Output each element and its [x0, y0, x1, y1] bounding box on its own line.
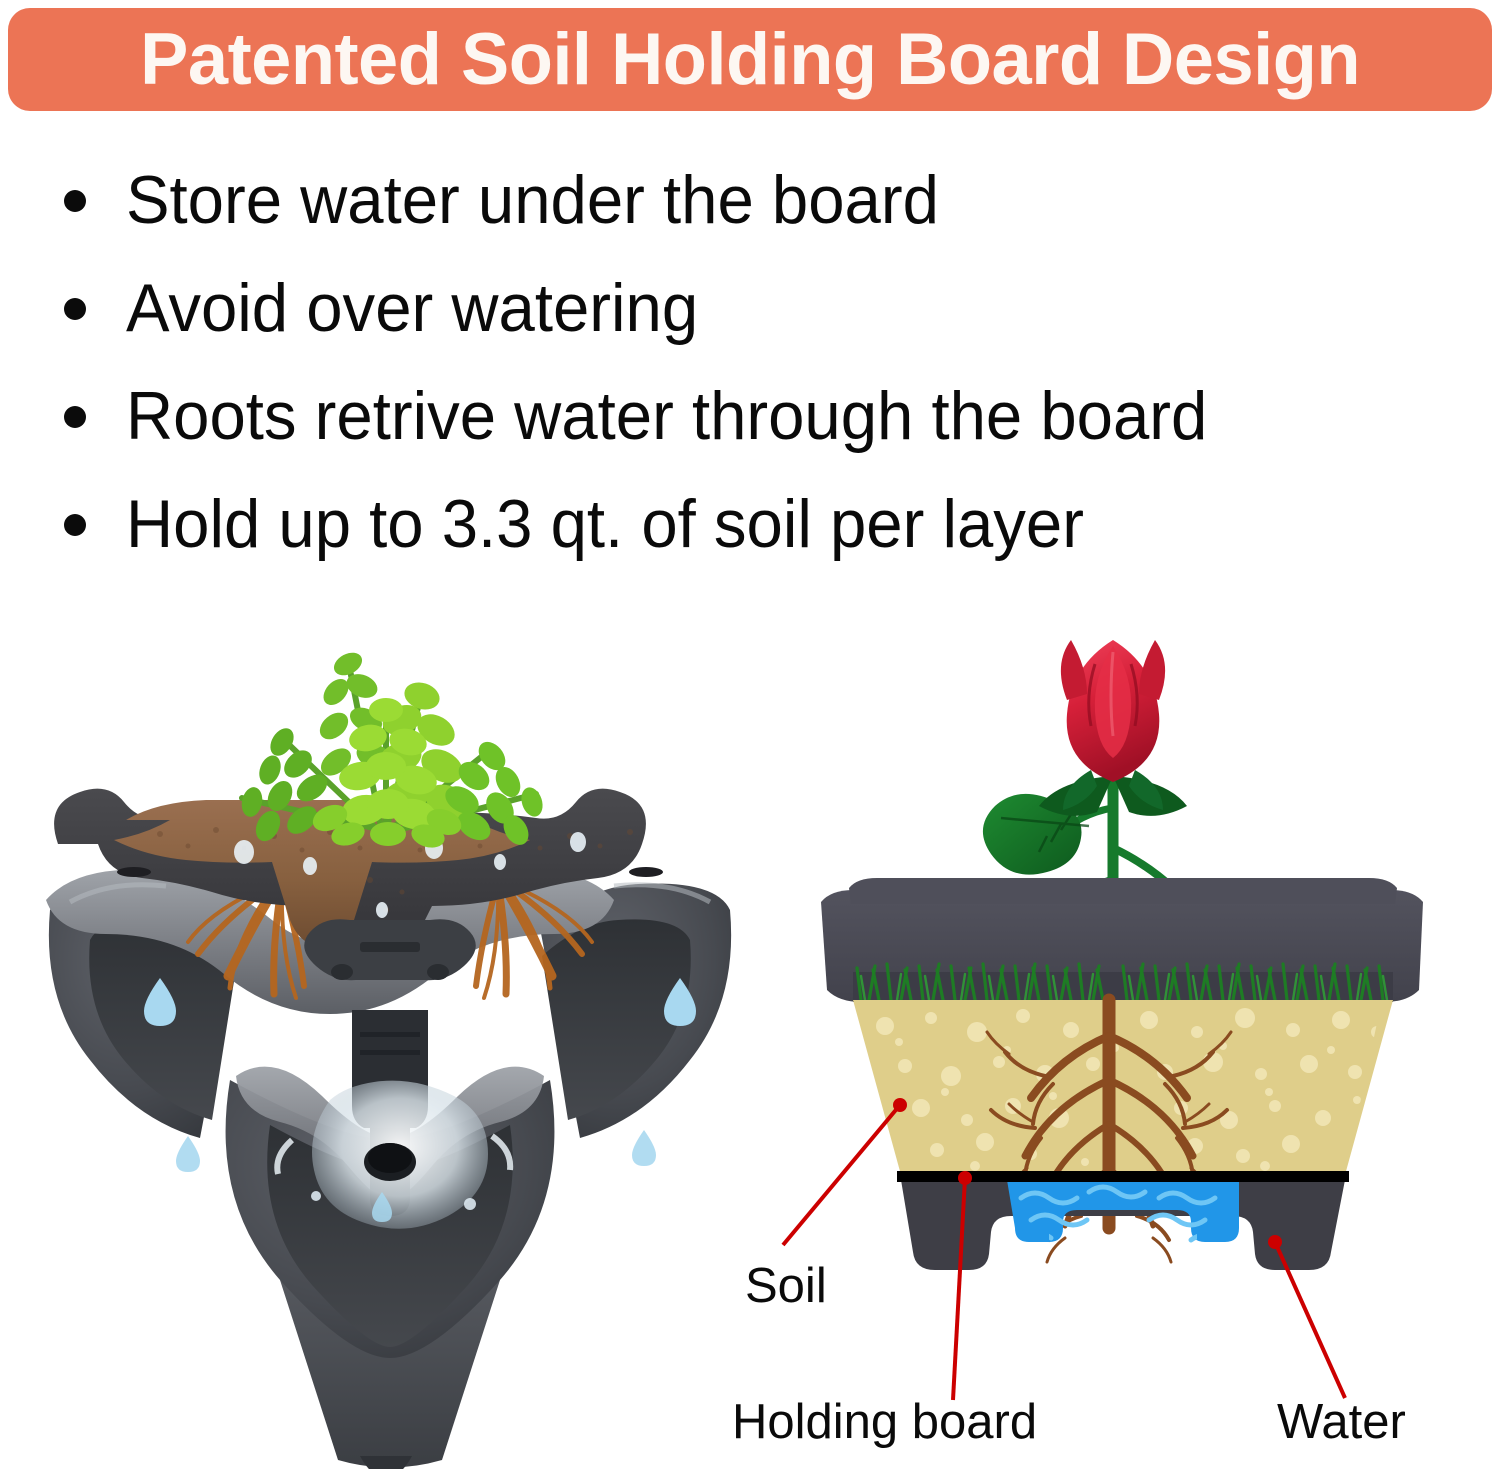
- rose-flower: [1061, 640, 1165, 782]
- callout-label-water: Water: [1277, 1398, 1406, 1447]
- feature-bullet-list: Store water under the board Avoid over w…: [0, 152, 1500, 584]
- illustration-row: [0, 580, 1500, 1469]
- pot-cross-section-diagram: [745, 580, 1500, 1469]
- bullet-dot-icon: [64, 514, 86, 536]
- bullet-dot-icon: [64, 190, 86, 212]
- feature-label: Avoid over watering: [126, 260, 1445, 356]
- connector-plate: [304, 919, 476, 980]
- list-item: Hold up to 3.3 qt. of soil per layer: [0, 476, 1500, 584]
- callout-label-holding-board: Holding board: [732, 1398, 1037, 1447]
- list-item: Avoid over watering: [0, 260, 1500, 368]
- feature-label: Roots retrive water through the board: [126, 368, 1445, 464]
- header-banner: Patented Soil Holding Board Design: [8, 8, 1492, 111]
- feature-label: Hold up to 3.3 qt. of soil per layer: [126, 476, 1445, 572]
- bullet-dot-icon: [64, 406, 86, 428]
- stacked-planter-photo: [30, 580, 750, 1469]
- list-item: Roots retrive water through the board: [0, 368, 1500, 476]
- callout-label-soil: Soil: [745, 1262, 827, 1311]
- list-item: Store water under the board: [0, 152, 1500, 260]
- page-title: Patented Soil Holding Board Design: [140, 23, 1360, 96]
- feature-label: Store water under the board: [126, 152, 1445, 248]
- bullet-dot-icon: [64, 298, 86, 320]
